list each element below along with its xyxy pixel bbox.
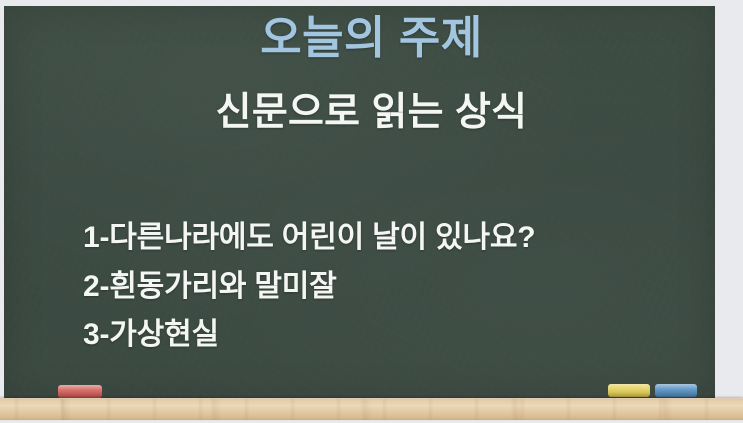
yellow-chalk-stick <box>608 384 650 397</box>
chalk-ledge <box>0 398 743 420</box>
agenda-list: 1-다른나라에도 어린이 날이 있나요? 2-흰동가리와 말미잘 3-가상현실 <box>83 214 535 360</box>
red-chalk-stick <box>58 385 102 398</box>
list-item: 2-흰동가리와 말미잘 <box>83 263 535 312</box>
page-title: 오늘의 주제 <box>0 14 743 61</box>
list-item: 3-가상현실 <box>83 311 535 360</box>
slide-canvas: 오늘의 주제 신문으로 읽는 상식 1-다른나라에도 어린이 날이 있나요? 2… <box>0 0 743 423</box>
blue-chalk-stick <box>655 384 697 397</box>
ledge-highlight <box>0 398 743 400</box>
board-content: 오늘의 주제 신문으로 읽는 상식 1-다른나라에도 어린이 날이 있나요? 2… <box>0 0 743 423</box>
page-subtitle: 신문으로 읽는 상식 <box>0 92 743 135</box>
list-item: 1-다른나라에도 어린이 날이 있나요? <box>83 214 535 263</box>
